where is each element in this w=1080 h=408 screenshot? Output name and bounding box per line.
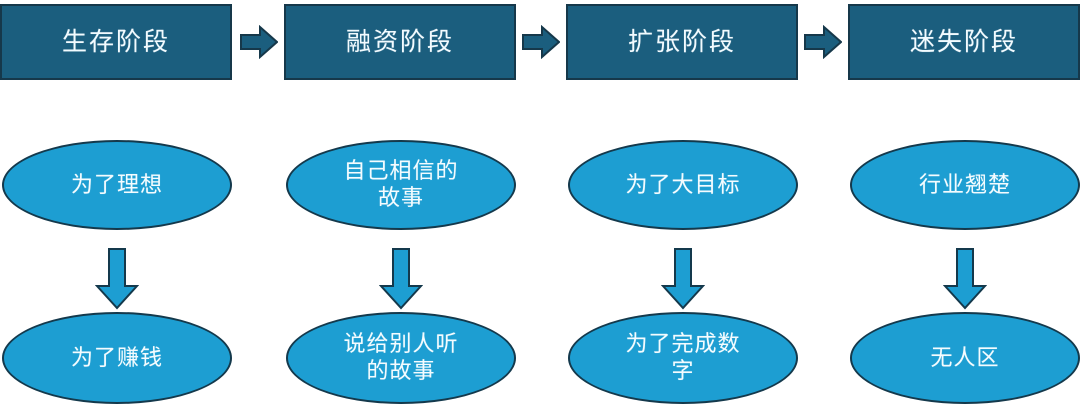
- motive-top-ellipse-4[interactable]: 行业翘楚: [850, 140, 1080, 230]
- motive-top-label-1: 为了理想: [71, 172, 163, 199]
- motive-top-label-2: 自己相信的 故事: [343, 158, 458, 212]
- motive-bottom-ellipse-1[interactable]: 为了赚钱: [2, 312, 232, 404]
- motive-bottom-ellipse-2[interactable]: 说给别人听 的故事: [286, 312, 516, 404]
- arrow-right-icon-1: [240, 25, 278, 59]
- stage-box-2[interactable]: 融资阶段: [284, 4, 516, 80]
- stage-label-1: 生存阶段: [62, 30, 170, 55]
- motive-top-ellipse-2[interactable]: 自己相信的 故事: [286, 140, 516, 230]
- motive-bottom-label-1: 为了赚钱: [71, 345, 163, 372]
- arrow-down-icon-1: [95, 248, 139, 310]
- motive-bottom-label-4: 无人区: [930, 345, 999, 372]
- arrow-down-icon-4: [943, 248, 987, 310]
- motive-bottom-label-2: 说给别人听 的故事: [343, 331, 458, 385]
- motive-bottom-ellipse-3[interactable]: 为了完成数 字: [568, 312, 798, 404]
- arrow-right-icon-3: [804, 25, 842, 59]
- arrow-down-icon-3: [661, 248, 705, 310]
- stage-box-1[interactable]: 生存阶段: [0, 4, 232, 80]
- motive-top-ellipse-1[interactable]: 为了理想: [2, 140, 232, 230]
- motive-top-label-4: 行业翘楚: [919, 172, 1011, 199]
- stage-label-4: 迷失阶段: [910, 30, 1018, 55]
- diagram-canvas: 生存阶段 融资阶段 扩张阶段 迷失阶段 为了理想 自己相信的 故事 为了大目标 …: [0, 0, 1080, 408]
- motive-top-ellipse-3[interactable]: 为了大目标: [568, 140, 798, 230]
- motive-top-label-3: 为了大目标: [625, 172, 740, 199]
- arrow-right-icon-2: [522, 25, 560, 59]
- arrow-down-icon-2: [379, 248, 423, 310]
- stage-box-3[interactable]: 扩张阶段: [566, 4, 798, 80]
- motive-bottom-label-3: 为了完成数 字: [625, 331, 740, 385]
- motive-bottom-ellipse-4[interactable]: 无人区: [850, 312, 1080, 404]
- stage-label-3: 扩张阶段: [628, 30, 736, 55]
- stage-box-4[interactable]: 迷失阶段: [848, 4, 1080, 80]
- stage-label-2: 融资阶段: [346, 30, 454, 55]
